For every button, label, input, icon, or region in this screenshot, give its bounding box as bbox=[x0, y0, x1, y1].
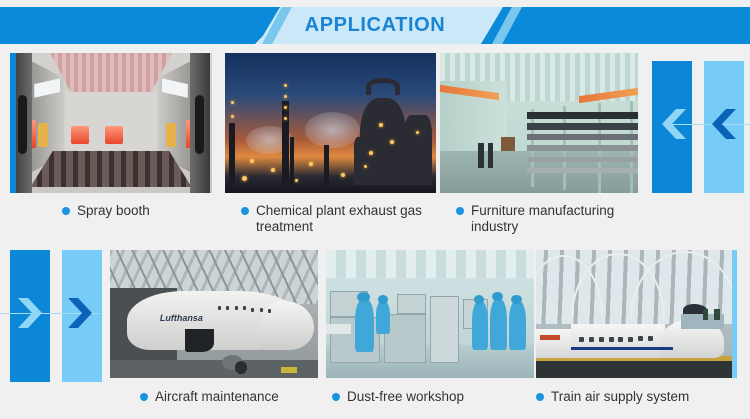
chevron-left-icon bbox=[658, 107, 688, 141]
caption-chemical-plant: Chemical plant exhaust gas treatment bbox=[225, 203, 436, 235]
dust-free-workshop-photo bbox=[326, 250, 534, 378]
chevron-right-icon bbox=[66, 296, 96, 330]
page-title: APPLICATION bbox=[0, 7, 750, 44]
arrow-decoration-left bbox=[652, 61, 750, 193]
chemical-plant-photo bbox=[225, 53, 436, 193]
caption-cleanroom: Dust-free workshop bbox=[326, 389, 534, 405]
application-row-one: Spray booth bbox=[0, 53, 750, 238]
caption-furniture: Furniture manufacturing industry bbox=[440, 203, 638, 235]
application-card-furniture[interactable]: Furniture manufacturing industry bbox=[440, 53, 638, 193]
bullet-icon bbox=[536, 393, 544, 401]
caption-text: Chemical plant exhaust gas treatment bbox=[256, 203, 430, 235]
application-card-spray-booth[interactable]: Spray booth bbox=[10, 53, 212, 193]
application-card-aircraft[interactable]: Lufthansa Aircraft maintenance bbox=[110, 250, 318, 378]
spray-booth-photo bbox=[10, 53, 212, 193]
chevron-right-icon bbox=[16, 296, 46, 330]
train-air-supply-photo bbox=[536, 250, 732, 378]
spray-booth-left-accent-bar bbox=[10, 53, 16, 193]
application-card-chemical-plant[interactable]: Chemical plant exhaust gas treatment bbox=[225, 53, 436, 193]
bullet-icon bbox=[456, 207, 464, 215]
aircraft-livery-text: Lufthansa bbox=[160, 313, 203, 323]
application-card-train[interactable]: Train air supply system bbox=[536, 250, 732, 378]
caption-text: Furniture manufacturing industry bbox=[471, 203, 632, 235]
page-header: APPLICATION bbox=[0, 7, 750, 44]
bullet-icon bbox=[140, 393, 148, 401]
caption-train: Train air supply system bbox=[536, 389, 732, 405]
caption-text: Train air supply system bbox=[551, 389, 689, 405]
application-card-cleanroom[interactable]: Dust-free workshop bbox=[326, 250, 534, 378]
caption-text: Aircraft maintenance bbox=[155, 389, 279, 405]
caption-aircraft: Aircraft maintenance bbox=[110, 389, 318, 405]
caption-text: Spray booth bbox=[77, 203, 150, 219]
bullet-icon bbox=[241, 207, 249, 215]
caption-spray-booth: Spray booth bbox=[10, 203, 212, 219]
bullet-icon bbox=[62, 207, 70, 215]
caption-text: Dust-free workshop bbox=[347, 389, 464, 405]
application-row-two: Lufthansa Aircraft maintenance bbox=[0, 250, 750, 419]
chevron-left-icon bbox=[708, 107, 738, 141]
bullet-icon bbox=[332, 393, 340, 401]
furniture-manufacturing-photo bbox=[440, 53, 638, 193]
train-right-accent-bar bbox=[732, 250, 737, 378]
aircraft-maintenance-photo: Lufthansa bbox=[110, 250, 318, 378]
arrow-decoration-right bbox=[10, 250, 108, 382]
application-banner: APPLICATION bbox=[0, 0, 750, 419]
